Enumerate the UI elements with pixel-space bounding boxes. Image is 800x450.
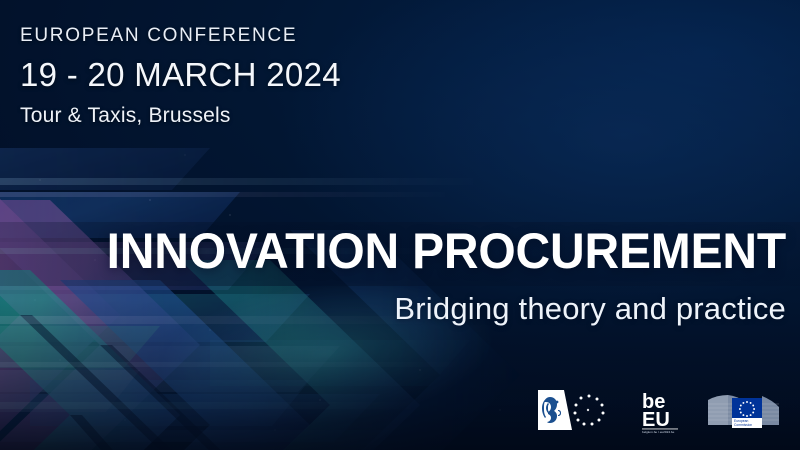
eu-flag-field [732,398,762,418]
event-venue: Tour & Taxis, Brussels [20,105,341,126]
be-eu-line2: EU [642,409,670,431]
eu-stars-arc-icon [574,395,605,426]
event-main-title: INNOVATION PROCUREMENT [31,226,786,276]
event-dateline: 19 - 20 MARCH 2024 [20,58,341,91]
logo-bar: be EU belgium.be / eu2024.be [536,386,786,434]
conference-banner: EUROPEAN CONFERENCE 19 - 20 MARCH 2024 T… [0,0,800,450]
event-kicker: EUROPEAN CONFERENCE [20,26,341,45]
belgian-presidency-logo [536,386,622,434]
event-header-block: EUROPEAN CONFERENCE 19 - 20 MARCH 2024 T… [20,26,341,126]
european-commission-logo: European Commission [702,386,786,434]
event-subtitle: Bridging theory and practice [0,293,786,324]
be-eu-tagline: belgium.be / eu2024.be [642,430,675,434]
ec-label-line2: Commission [734,423,752,427]
event-title-block: INNOVATION PROCUREMENT Bridging theory a… [0,226,786,324]
be-eu-logo: be EU belgium.be / eu2024.be [638,386,686,434]
